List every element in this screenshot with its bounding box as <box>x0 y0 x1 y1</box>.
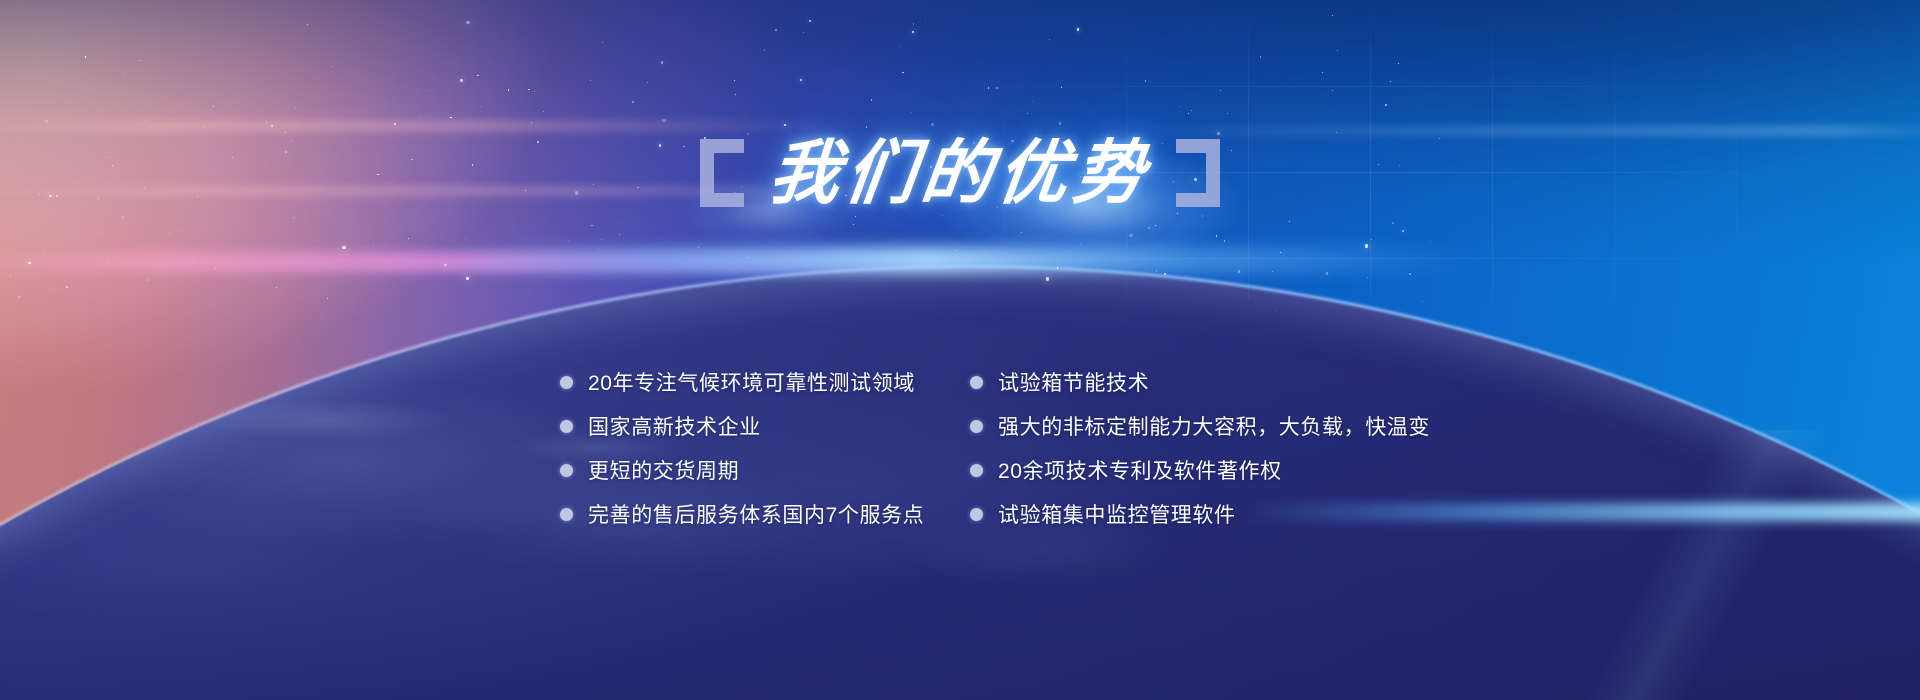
star-icon <box>1238 270 1240 272</box>
list-item[interactable]: 20年专注气候环境可靠性测试领域 <box>560 360 890 404</box>
star-icon <box>1332 90 1333 91</box>
star-icon <box>1216 235 1218 237</box>
star-icon <box>139 60 141 62</box>
bullet-dot-icon <box>560 420 573 433</box>
list-item[interactable]: 试验箱集中监控管理软件 <box>970 492 1430 536</box>
star-icon <box>1402 230 1404 232</box>
star-icon <box>590 80 591 81</box>
star-icon <box>1177 213 1178 214</box>
star-icon <box>1220 90 1221 91</box>
list-item[interactable]: 强大的非标定制能力大容积，大负载，快温变 <box>970 404 1430 448</box>
star-icon <box>601 239 602 240</box>
star-icon <box>902 72 904 74</box>
list-item[interactable]: 更短的交货周期 <box>560 448 890 492</box>
bullet-dot-icon <box>560 464 573 477</box>
star-icon <box>420 117 421 118</box>
star-icon <box>1145 80 1147 82</box>
star-icon <box>285 132 286 133</box>
star-icon <box>1280 252 1281 253</box>
star-icon <box>1032 101 1034 103</box>
star-icon <box>338 260 339 261</box>
bullet-dot-icon <box>970 376 983 389</box>
star-icon <box>1129 234 1132 237</box>
star-icon <box>747 133 749 135</box>
star-icon <box>1365 244 1368 247</box>
star-icon <box>508 89 510 91</box>
star-icon <box>1336 132 1338 134</box>
star-icon <box>931 123 934 126</box>
advantages-column-left: 20年专注气候环境可靠性测试领域 国家高新技术企业 更短的交货周期 完善的售后服… <box>560 360 890 536</box>
star-icon <box>800 79 802 81</box>
star-icon <box>215 268 216 269</box>
list-item[interactable]: 试验箱节能技术 <box>970 360 1430 404</box>
star-icon <box>10 275 11 276</box>
star-icon <box>1272 271 1273 272</box>
star-icon <box>293 217 295 219</box>
star-icon <box>1077 28 1079 30</box>
star-icon <box>698 247 699 248</box>
star-icon <box>591 225 593 227</box>
star-icon <box>465 238 466 239</box>
star-icon <box>1260 56 1262 58</box>
star-icon <box>1326 272 1328 274</box>
star-icon <box>1430 241 1431 242</box>
star-icon <box>28 262 30 264</box>
star-icon <box>276 287 277 288</box>
list-item[interactable]: 20余项技术专利及软件著作权 <box>970 448 1430 492</box>
star-field <box>0 0 1920 700</box>
star-icon <box>632 101 634 103</box>
star-icon <box>1227 113 1228 114</box>
star-icon <box>123 74 124 75</box>
star-icon <box>1148 227 1150 229</box>
star-icon <box>85 56 87 58</box>
bullet-dot-icon <box>970 464 983 477</box>
star-icon <box>1156 270 1158 272</box>
star-icon <box>122 216 124 218</box>
star-icon <box>925 20 926 21</box>
star-icon <box>332 66 333 67</box>
star-icon <box>1155 225 1156 226</box>
star-icon <box>107 261 108 262</box>
star-icon <box>1224 240 1226 242</box>
left-bracket-icon <box>700 139 744 207</box>
star-icon <box>1021 232 1022 233</box>
list-item-label: 强大的非标定制能力大容积，大负载，快温变 <box>998 411 1430 441</box>
star-icon <box>1337 50 1338 51</box>
star-icon <box>66 286 68 288</box>
star-icon <box>271 125 273 127</box>
star-icon <box>775 29 777 31</box>
star-icon <box>1191 110 1192 111</box>
star-icon <box>784 124 786 126</box>
list-item-label: 20年专注气候环境可靠性测试领域 <box>588 367 915 397</box>
star-icon <box>1080 244 1081 245</box>
star-icon <box>295 107 296 108</box>
star-icon <box>996 87 998 89</box>
star-icon <box>1409 273 1411 275</box>
star-icon <box>1371 239 1372 240</box>
star-icon <box>1367 277 1368 278</box>
star-icon <box>1061 87 1062 88</box>
star-icon <box>1332 15 1333 16</box>
star-icon <box>450 117 452 119</box>
star-icon <box>543 111 544 112</box>
star-icon <box>1202 215 1204 217</box>
star-icon <box>466 21 469 24</box>
star-icon <box>621 222 622 223</box>
star-icon <box>327 298 328 299</box>
star-icon <box>1188 113 1189 114</box>
star-icon <box>1046 277 1049 280</box>
star-icon <box>1390 81 1391 82</box>
star-icon <box>1322 72 1323 73</box>
star-icon <box>1059 122 1061 124</box>
star-icon <box>429 90 430 91</box>
bullet-dot-icon <box>970 420 983 433</box>
star-icon <box>444 264 446 266</box>
star-icon <box>477 75 479 77</box>
right-bracket-icon <box>1176 139 1220 207</box>
star-icon <box>1289 221 1290 222</box>
star-icon <box>661 61 663 63</box>
list-item-label: 更短的交货周期 <box>588 455 739 485</box>
star-icon <box>988 87 990 89</box>
star-icon <box>956 250 957 251</box>
star-icon <box>1179 106 1180 107</box>
star-icon <box>1398 63 1399 64</box>
list-item-label: 20余项技术专利及软件著作权 <box>998 455 1282 485</box>
star-icon <box>1385 104 1387 106</box>
star-icon <box>764 49 766 51</box>
star-icon <box>735 94 736 95</box>
bullet-dot-icon <box>970 508 983 521</box>
star-icon <box>913 23 915 25</box>
star-icon <box>307 24 308 25</box>
star-icon <box>97 233 98 234</box>
star-icon <box>1049 39 1050 40</box>
star-icon <box>460 79 462 81</box>
star-icon <box>647 82 648 83</box>
page-title: 我们的优势 <box>0 138 1920 208</box>
list-item-label: 国家高新技术企业 <box>588 411 761 441</box>
star-icon <box>408 238 409 239</box>
star-icon <box>1276 310 1277 311</box>
page-title-text: 我们的优势 <box>766 138 1155 208</box>
star-icon <box>1422 301 1423 302</box>
star-icon <box>266 122 267 123</box>
list-item[interactable]: 国家高新技术企业 <box>560 404 890 448</box>
star-icon <box>853 224 854 225</box>
star-icon <box>534 91 535 92</box>
star-icon <box>480 106 481 107</box>
star-icon <box>1057 267 1059 269</box>
star-icon <box>734 80 735 81</box>
star-icon <box>204 126 205 127</box>
star-icon <box>855 216 856 217</box>
list-item-label: 试验箱节能技术 <box>998 367 1149 397</box>
star-icon <box>528 89 530 91</box>
star-icon <box>662 119 665 122</box>
star-icon <box>531 122 532 123</box>
star-icon <box>43 251 44 252</box>
star-icon <box>194 258 195 259</box>
star-icon <box>1217 132 1219 134</box>
star-icon <box>1392 222 1394 224</box>
star-icon <box>394 123 396 125</box>
bullet-dot-icon <box>560 376 573 389</box>
star-icon <box>342 246 345 249</box>
star-icon <box>809 20 811 22</box>
star-icon <box>619 234 620 235</box>
star-icon <box>466 277 469 280</box>
star-icon <box>213 106 214 107</box>
star-icon <box>748 257 749 258</box>
star-icon <box>803 32 804 33</box>
star-icon <box>18 296 20 298</box>
star-icon <box>599 248 600 249</box>
star-icon <box>45 120 47 122</box>
star-icon <box>602 42 603 43</box>
star-icon <box>146 279 148 281</box>
star-icon <box>568 240 569 241</box>
bullet-dot-icon <box>560 508 573 521</box>
star-icon <box>866 126 868 128</box>
star-icon <box>900 46 901 47</box>
list-item-label: 试验箱集中监控管理软件 <box>998 499 1236 529</box>
list-item[interactable]: 完善的售后服务体系国内7个服务点 <box>560 492 890 536</box>
star-icon <box>911 112 912 113</box>
star-icon <box>373 244 375 246</box>
star-icon <box>942 215 943 216</box>
advantages-column-right: 试验箱节能技术 强大的非标定制能力大容积，大负载，快温变 20余项技术专利及软件… <box>970 360 1430 536</box>
star-icon <box>871 99 873 101</box>
star-icon <box>1027 113 1028 114</box>
star-icon <box>145 121 146 122</box>
star-icon <box>912 31 914 33</box>
star-icon <box>178 230 179 231</box>
list-item-label: 完善的售后服务体系国内7个服务点 <box>588 499 924 529</box>
advantages-list: 20年专注气候环境可靠性测试领域 国家高新技术企业 更短的交货周期 完善的售后服… <box>560 360 1430 536</box>
star-icon <box>169 233 170 234</box>
star-icon <box>1164 273 1166 275</box>
advantages-banner: 我们的优势 20年专注气候环境可靠性测试领域 国家高新技术企业 更短的交货周期 … <box>0 0 1920 700</box>
